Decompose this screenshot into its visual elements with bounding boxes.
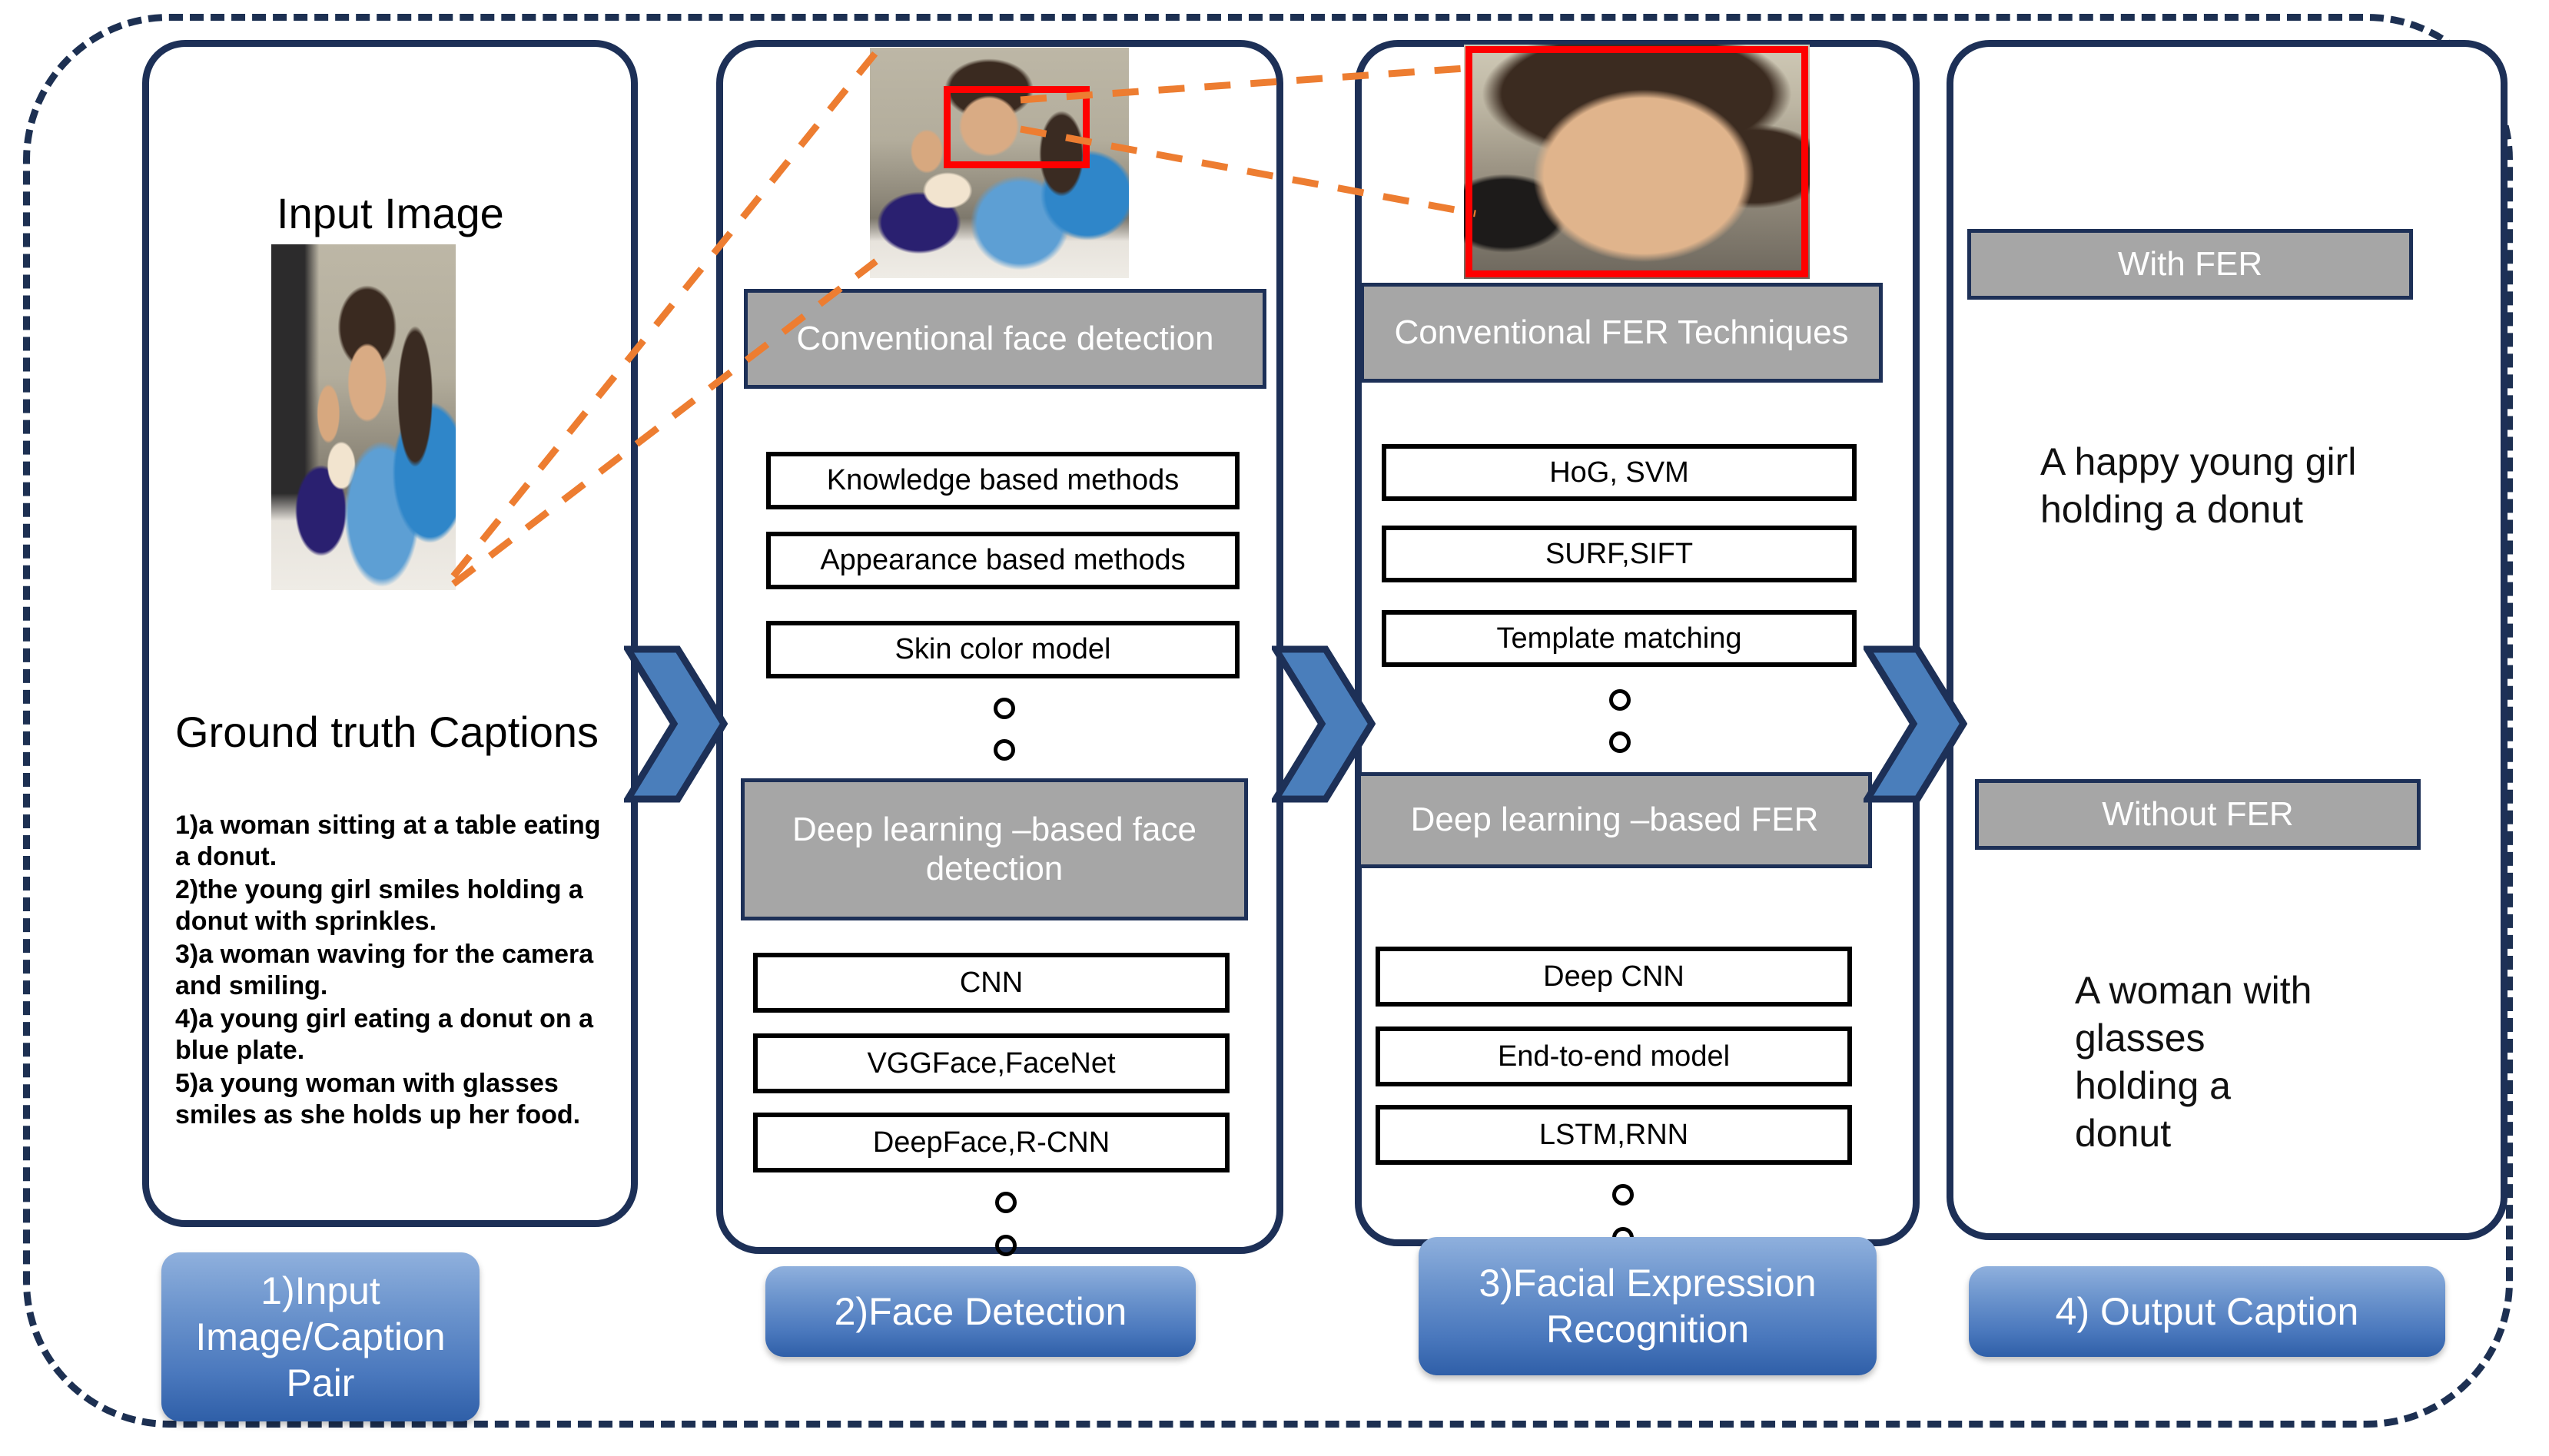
- ellipsis-dot-1-face-deep: [995, 1192, 1017, 1213]
- input-photo-scene: [271, 244, 456, 590]
- ground-truth-caption-2: 2)the young girl smiles holding a donut …: [175, 874, 621, 938]
- without-fer-caption: A woman with glasses holding a donut: [2075, 967, 2328, 1157]
- step-label-3-fer[interactable]: 3)Facial Expression Recognition: [1419, 1237, 1877, 1375]
- ground-truth-caption-1: 1)a woman sitting at a table eating a do…: [175, 810, 621, 874]
- ellipsis-dot-2-face-deep: [995, 1235, 1017, 1256]
- without-fer-header: Without FER: [1975, 779, 2421, 850]
- step-label-4-output-caption[interactable]: 4) Output Caption: [1969, 1266, 2445, 1357]
- step-label-1-input[interactable]: 1)Input Image/Caption Pair: [161, 1252, 480, 1421]
- method-box-vggface-facenet: VGGFace,FaceNet: [753, 1033, 1230, 1093]
- ground-truth-caption-4: 4)a young girl eating a donut on a blue …: [175, 1003, 621, 1067]
- ellipsis-dot-2-fer-conventional: [1609, 731, 1631, 753]
- with-fer-header: With FER: [1967, 229, 2413, 300]
- connector-input-to-detection-lower: [446, 254, 891, 592]
- ellipsis-dot-2-face-conventional: [994, 739, 1015, 761]
- step-label-2-face-detection[interactable]: 2)Face Detection: [765, 1266, 1196, 1357]
- method-box-end-to-end: End-to-end model: [1376, 1026, 1852, 1086]
- connector-facebox-to-crop-bottom: [1014, 123, 1483, 223]
- method-box-skin-color-model: Skin color model: [766, 621, 1240, 678]
- method-box-template-matching: Template matching: [1382, 610, 1857, 667]
- arrow-stage1-to-stage2: [624, 645, 728, 803]
- fer-face-photo: [1464, 45, 1810, 279]
- with-fer-caption: A happy young girl holding a donut: [2040, 438, 2363, 533]
- fer-face-bounding-box: [1465, 46, 1808, 277]
- ground-truth-caption-3: 3)a woman waving for the camera and smil…: [175, 939, 621, 1003]
- deep-learning-face-detection-header: Deep learning –based face detection: [741, 778, 1248, 920]
- method-box-deepface-rcnn: DeepFace,R-CNN: [753, 1113, 1230, 1172]
- deep-learning-fer-header: Deep learning –based FER: [1357, 772, 1872, 868]
- input-photo: [271, 244, 456, 590]
- ground-truth-caption-5: 5)a young woman with glasses smiles as s…: [175, 1068, 621, 1132]
- method-box-cnn: CNN: [753, 953, 1230, 1013]
- conventional-fer-header: Conventional FER Techniques: [1360, 283, 1883, 383]
- arrow-stage2-to-stage3: [1272, 645, 1376, 803]
- method-box-hog-svm: HoG, SVM: [1382, 444, 1857, 501]
- ellipsis-dot-1-fer-conventional: [1609, 689, 1631, 711]
- method-box-surf-sift: SURF,SIFT: [1382, 526, 1857, 582]
- arrow-stage3-to-stage4: [1864, 645, 1967, 803]
- diagram-canvas: Input Image Ground truth Captions 1)a wo…: [0, 0, 2549, 1456]
- method-box-deep-cnn: Deep CNN: [1376, 947, 1852, 1007]
- ellipsis-dot-1-face-conventional: [994, 698, 1015, 719]
- ground-truth-captions-heading: Ground truth Captions: [175, 707, 652, 757]
- method-box-lstm-rnn: LSTM,RNN: [1376, 1105, 1852, 1165]
- ellipsis-dot-1-fer-deep: [1612, 1184, 1634, 1206]
